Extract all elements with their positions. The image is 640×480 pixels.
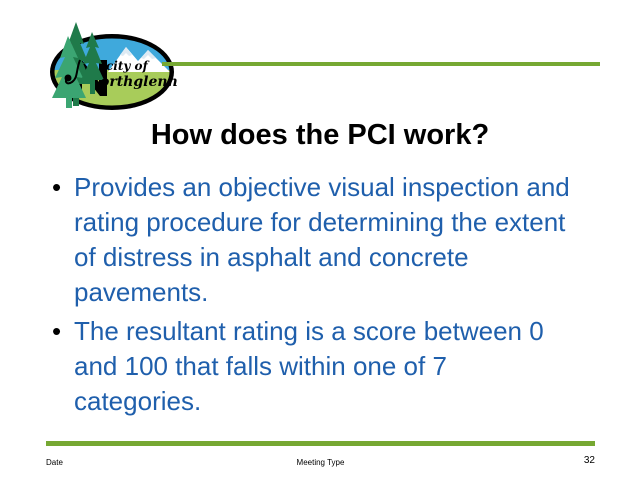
slide-canvas: city of orthglenn How does the PCI work?… <box>0 0 640 480</box>
footer-page-number: 32 <box>584 454 595 468</box>
bullet-item: • Provides an objective visual inspectio… <box>48 170 608 310</box>
footer-accent-rule <box>46 441 595 446</box>
logo-swoosh-dot <box>65 75 72 82</box>
logo-script-dot <box>102 64 106 68</box>
slide-body: • Provides an objective visual inspectio… <box>48 170 608 423</box>
bullet-marker-icon: • <box>48 170 74 205</box>
logo-script-northglenn: orthglenn <box>100 74 178 90</box>
bullet-text: Provides an objective visual inspection … <box>74 170 574 310</box>
bullet-text: The resultant rating is a score between … <box>74 314 574 419</box>
slide-footer: Date Meeting Type 32 <box>46 456 595 470</box>
header-accent-rule <box>162 62 600 66</box>
bullet-item: • The resultant rating is a score betwee… <box>48 314 608 419</box>
logo-script-city-of: city of <box>106 59 150 73</box>
city-of-northglenn-logo: city of orthglenn <box>46 14 178 110</box>
footer-meeting-type: Meeting Type <box>46 456 595 470</box>
bullet-marker-icon: • <box>48 314 74 349</box>
slide-title: How does the PCI work? <box>0 118 640 152</box>
